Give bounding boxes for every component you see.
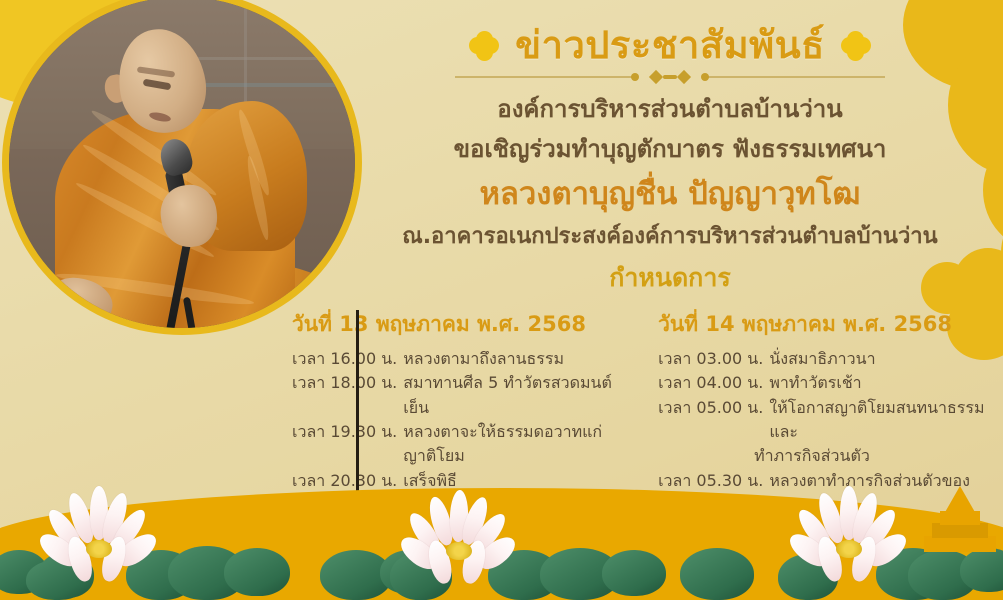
lotus-leaf-cluster	[168, 490, 328, 600]
schedule-item: เวลา 16.00 น. หลวงตามาถึงลานธรรม	[292, 347, 622, 371]
organization-name: องค์การบริหารส่วนตำบลบ้านว่าน	[360, 92, 980, 127]
schedule-desc: นั่งสมาธิภาวนา	[769, 347, 875, 371]
schedule-item: เวลา 18.00 น. สมาทานศีล 5 ทำวัตรสวดมนต์เ…	[292, 371, 622, 420]
schedule-desc: หลวงตามาถึงลานธรรม	[403, 347, 564, 371]
page-title: ข่าวประชาสัมพันธ์	[515, 24, 825, 68]
schedule-desc: หลวงตาจะให้ธรรมดอวาทแก่ญาติโยม	[403, 420, 622, 469]
schedule-item: เวลา 19.30 น. หลวงตาจะให้ธรรมดอวาทแก่ญาต…	[292, 420, 622, 469]
photo-wall-seam-horizontal	[189, 57, 355, 60]
photo-wall-seam-secondary	[203, 83, 355, 87]
schedule-time: เวลา 16.00 น.	[292, 347, 397, 371]
header-block: ข่าวประชาสัมพันธ์ องค์การบริหารส่วนตำบลบ…	[360, 24, 980, 298]
quatrefoil-flower-icon	[469, 31, 499, 61]
schedule-time: เวลา 05.00 น.	[658, 396, 763, 445]
schedule-time: เวลา 18.00 น.	[292, 371, 397, 420]
monk-name: หลวงตาบุญชื่น ปัญญาวุทโฒ	[360, 174, 980, 216]
ornamental-divider	[455, 70, 885, 84]
monk-photo	[2, 0, 362, 335]
monk-photo-image	[9, 0, 355, 328]
schedule-item: เวลา 04.00 น. พาทำวัตรเช้า	[658, 371, 992, 395]
schedule-time: เวลา 03.00 น.	[658, 347, 763, 371]
schedule-desc: สมาทานศีล 5 ทำวัตรสวดมนต์เย็น	[403, 371, 622, 420]
schedule-desc: พาทำวัตรเช้า	[769, 371, 861, 395]
lotus-leaf-cluster	[540, 490, 700, 600]
schedule-column-divider	[356, 310, 359, 506]
invitation-line: ขอเชิญร่วมทำบุญตักบาตร ฟังธรรมเทศนา	[360, 132, 980, 167]
venue-line: ณ.อาคารอเนกประสงค์องค์การบริหารส่วนตำบลบ…	[360, 222, 980, 253]
title-row: ข่าวประชาสัมพันธ์	[360, 24, 980, 68]
schedule-item: เวลา 05.00 น. ให้โอกาสญาติโยมสนทนาธรรมแล…	[658, 396, 992, 445]
thai-pagoda-icon	[923, 486, 997, 552]
agenda-label: กำหนดการ	[360, 258, 980, 298]
photo-wall-seam-vertical	[244, 0, 247, 110]
schedule-desc: ให้โอกาสญาติโยมสนทนาธรรมและ	[769, 396, 992, 445]
schedule-item-continuation: ทำภารกิจส่วนตัว	[658, 444, 992, 468]
quatrefoil-flower-icon	[841, 31, 871, 61]
schedule-time: เวลา 04.00 น.	[658, 371, 763, 395]
poster-canvas: ข่าวประชาสัมพันธ์ องค์การบริหารส่วนตำบลบ…	[0, 0, 1003, 600]
lotus-decoration	[400, 490, 560, 600]
day2-date-heading: วันที่ 14 พฤษภาคม พ.ศ. 2568	[658, 308, 992, 341]
day1-date-heading: วันที่ 13 พฤษภาคม พ.ศ. 2568	[292, 308, 622, 341]
schedule-item: เวลา 03.00 น. นั่งสมาธิภาวนา	[658, 347, 992, 371]
schedule-time: เวลา 19.30 น.	[292, 420, 397, 469]
